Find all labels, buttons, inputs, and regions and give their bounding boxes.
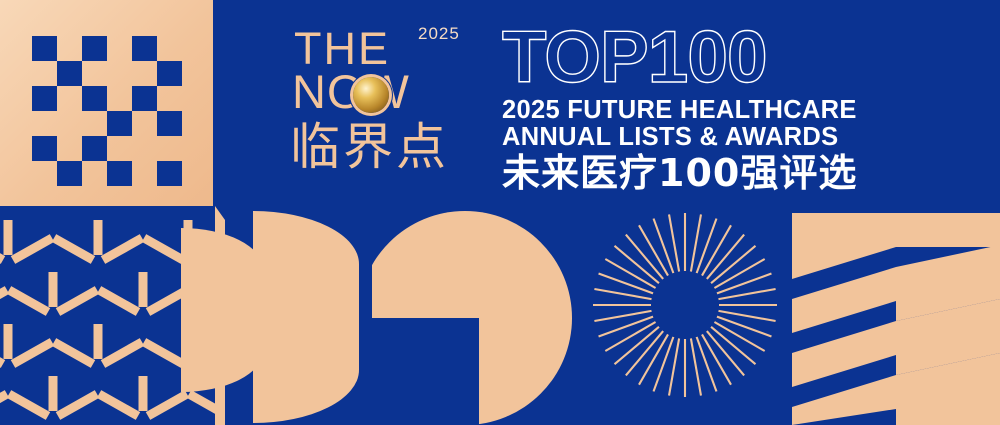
checker-cell [132, 136, 157, 161]
headline-chinese-line: 未来医疗100强评选 [502, 152, 932, 195]
checkerboard-panel [0, 0, 213, 206]
checker-cell [32, 136, 57, 161]
checker-cell [57, 161, 82, 186]
checker-cell [57, 136, 82, 161]
notched-disc-shape [372, 211, 572, 425]
checker-cell [32, 61, 57, 86]
gold-sphere-icon [353, 77, 389, 113]
headline-english-line-1: 2025 FUTURE HEALTHCARE [502, 97, 932, 124]
checker-cell [82, 86, 107, 111]
checker-cell [32, 161, 57, 186]
checker-cell [157, 61, 182, 86]
checker-cell [107, 136, 132, 161]
checker-cell [157, 36, 182, 61]
sunburst-pattern [592, 212, 778, 398]
checker-cell [132, 86, 157, 111]
logo-year: 2025 [418, 24, 460, 44]
banner-root: THE 2025 NOW 临界点 TOP100 2025 FUTURE HEAL… [0, 0, 1000, 425]
logo-block: THE 2025 NOW 临界点 [290, 18, 490, 188]
checker-cell [132, 111, 157, 136]
checkerboard-pattern [32, 36, 182, 186]
checker-cell [82, 161, 107, 186]
checker-cell [32, 36, 57, 61]
checker-cell [107, 36, 132, 61]
checker-cell [107, 86, 132, 111]
checker-cell [132, 36, 157, 61]
checker-cell [57, 111, 82, 136]
diagonal-stripes-pattern [786, 203, 1000, 425]
logo-chinese-name: 临界点 [290, 122, 449, 172]
headline-block: TOP100 2025 FUTURE HEALTHCARE ANNUAL LIS… [502, 24, 932, 195]
checker-cell [107, 61, 132, 86]
checker-cell [157, 86, 182, 111]
checker-cell [57, 36, 82, 61]
checker-cell [107, 161, 132, 186]
checker-cell [57, 86, 82, 111]
logo-word-now: NOW [292, 68, 410, 115]
checker-cell [157, 111, 182, 136]
headline-english-line-2: ANNUAL LISTS & AWARDS [502, 124, 932, 151]
checker-cell [107, 111, 132, 136]
half-circle-shape [181, 228, 263, 392]
checker-cell [32, 86, 57, 111]
checker-cell [132, 161, 157, 186]
top100-title: TOP100 [502, 24, 932, 91]
checker-cell [132, 61, 157, 86]
half-circle-shape [253, 211, 359, 423]
checker-cell [57, 61, 82, 86]
checker-cell [157, 136, 182, 161]
checker-cell [82, 111, 107, 136]
checker-cell [82, 136, 107, 161]
checker-cell [82, 61, 107, 86]
checker-cell [32, 111, 57, 136]
checker-cell [157, 161, 182, 186]
checker-cell [82, 36, 107, 61]
